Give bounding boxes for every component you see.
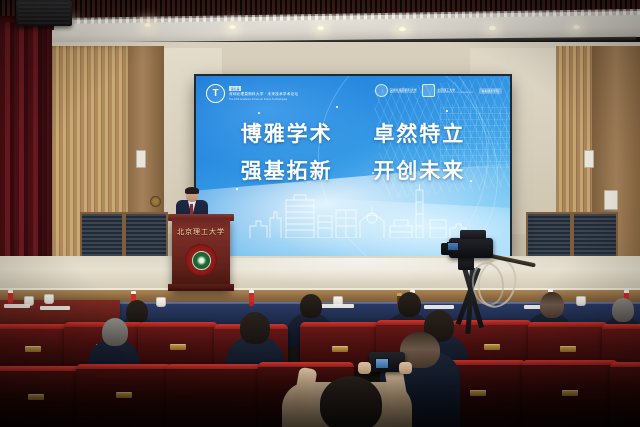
auditorium-seat[interactable] [166,364,262,427]
ceiling-speaker-left [16,0,72,26]
audience-person-head [612,298,634,322]
seat-headrest-trim [258,362,354,367]
screen-particle [336,106,338,108]
podium-base [168,284,234,291]
camcorder-lcd-screen [375,358,389,369]
university-crest-icon [185,244,217,276]
wall-electrical-box[interactable] [604,190,618,210]
forum-logo-title-en: The Fifth Academic Forum on Future Techn… [229,98,298,101]
tea-cup [156,297,166,307]
camera-top-handle [460,230,486,239]
audience-person-head [540,292,564,318]
seat-headrest-trim [76,364,172,369]
screen-background: T 第五届 深圳北理莫斯科大学 · 未来技术学术论坛 The Fifth Aca… [196,76,510,256]
audience-person-head [240,312,270,344]
foreground-person-hand [399,362,412,374]
seat-number-plaque [28,394,44,400]
seat-headrest-trim [0,324,72,329]
wing-icon [422,84,435,97]
seat-number-plaque [470,390,486,396]
audience-person-head [126,300,148,324]
downlight [398,26,407,32]
audience-person-head [102,318,128,346]
seat-number-plaque [332,346,348,352]
downlight [316,25,325,31]
seat-number-plaque [562,390,578,396]
partner-logo-bit-en: BEIJING INSTITUTE OF TECHNOLOGY [437,92,474,94]
seat-number-plaque [560,346,576,352]
podium: 北京理工大学 [172,218,230,290]
led-display-screen: T 第五届 深圳北理莫斯科大学 · 未来技术学术论坛 The Fifth Aca… [196,76,510,256]
water-bottle [249,290,254,306]
forum-logo-title-cn: 深圳北理莫斯科大学 · 未来技术学术论坛 [229,92,298,97]
screen-slogan: 博雅学术 卓然特立 强基拓新 开创未来 [196,118,510,185]
wall-vent-left-2 [124,212,168,260]
camera-lcd-screen [447,242,459,251]
slogan-line-1: 博雅学术 卓然特立 [241,118,466,148]
crest-inner [192,251,211,270]
slogan-line-2-right: 开创未来 [373,159,465,183]
document-sheet [4,304,30,308]
downlight [572,24,581,30]
tripod-head[interactable] [458,256,474,270]
seat-headrest-trim [300,322,380,327]
audience-person-head [300,294,322,318]
slogan-line-2-left: 强基拓新 [241,159,333,183]
seat-headrest-trim [528,322,608,327]
seat-number-plaque [116,392,132,398]
partner-logo-bit: 北京理工大学 BEIJING INSTITUTE OF TECHNOLOGY [422,84,474,97]
speaker-tie [190,204,193,214]
wall-emblem-left [150,196,161,207]
document-sheet [40,306,70,310]
auditorium-seat[interactable] [610,362,640,427]
seat-number-plaque [484,344,500,350]
stage-curtain [0,22,52,284]
seat-headrest-trim [602,324,640,329]
downlight [143,22,152,28]
wall-vent-right-2 [572,212,618,260]
auditorium-seat[interactable] [138,322,218,370]
forum-logo-badge: T [206,84,225,103]
seat-headrest-trim [138,322,218,327]
document-sheet [424,305,454,309]
forum-logo-tag: 第五届 [229,86,241,91]
slogan-line-2: 强基拓新 开创未来 [241,155,466,185]
screen-particle [446,110,448,112]
audience-person-head [398,292,421,317]
shield-icon [375,84,388,97]
document-sheet [320,304,354,308]
partner-logo-chip: 未来技术学院 [479,88,502,94]
seat-headrest-trim [166,364,262,369]
partner-logo-smbu-en: SMBU · SHENZHEN MSU-BIT [390,92,417,94]
forum-logo: T 第五届 深圳北理莫斯科大学 · 未来技术学术论坛 The Fifth Aca… [206,84,298,103]
tea-cup [576,296,586,306]
seat-number-plaque [25,346,41,352]
seat-headrest-trim [452,320,532,325]
downlight [488,25,497,31]
wall-vent-right [526,212,572,260]
seat-headrest-trim [0,366,82,371]
wall-light-fixture [136,150,146,168]
auditorium-seat[interactable] [0,324,72,370]
seat-headrest-trim [522,360,618,365]
partner-logos: 深圳北理莫斯科大学 SMBU · SHENZHEN MSU-BIT 北京理工大学… [375,84,502,97]
city-skyline-graphic [244,182,474,238]
seat-headrest-trim [610,362,640,367]
tea-cup [44,294,54,304]
auditorium-photo: T 第五届 深圳北理莫斯科大学 · 未来技术学术论坛 The Fifth Aca… [0,0,640,427]
screen-particle [258,112,260,114]
foreground-person-hand [358,362,371,374]
foreground-person-head [320,376,382,427]
partner-logo-smbu: 深圳北理莫斯科大学 SMBU · SHENZHEN MSU-BIT [375,84,417,97]
slogan-line-1-right: 卓然特立 [373,122,465,146]
speaker-hair [185,187,199,194]
wall-vent-left [80,212,124,260]
downlight [228,24,237,30]
auditorium-seat[interactable] [522,360,618,427]
auditorium-seat[interactable] [0,366,82,427]
auditorium-seat[interactable] [76,364,172,427]
seat-number-plaque [170,344,186,350]
slogan-line-1-left: 博雅学术 [241,122,333,146]
wall-light-fixture [584,150,594,168]
podium-institution-label: 北京理工大学 [172,227,230,237]
